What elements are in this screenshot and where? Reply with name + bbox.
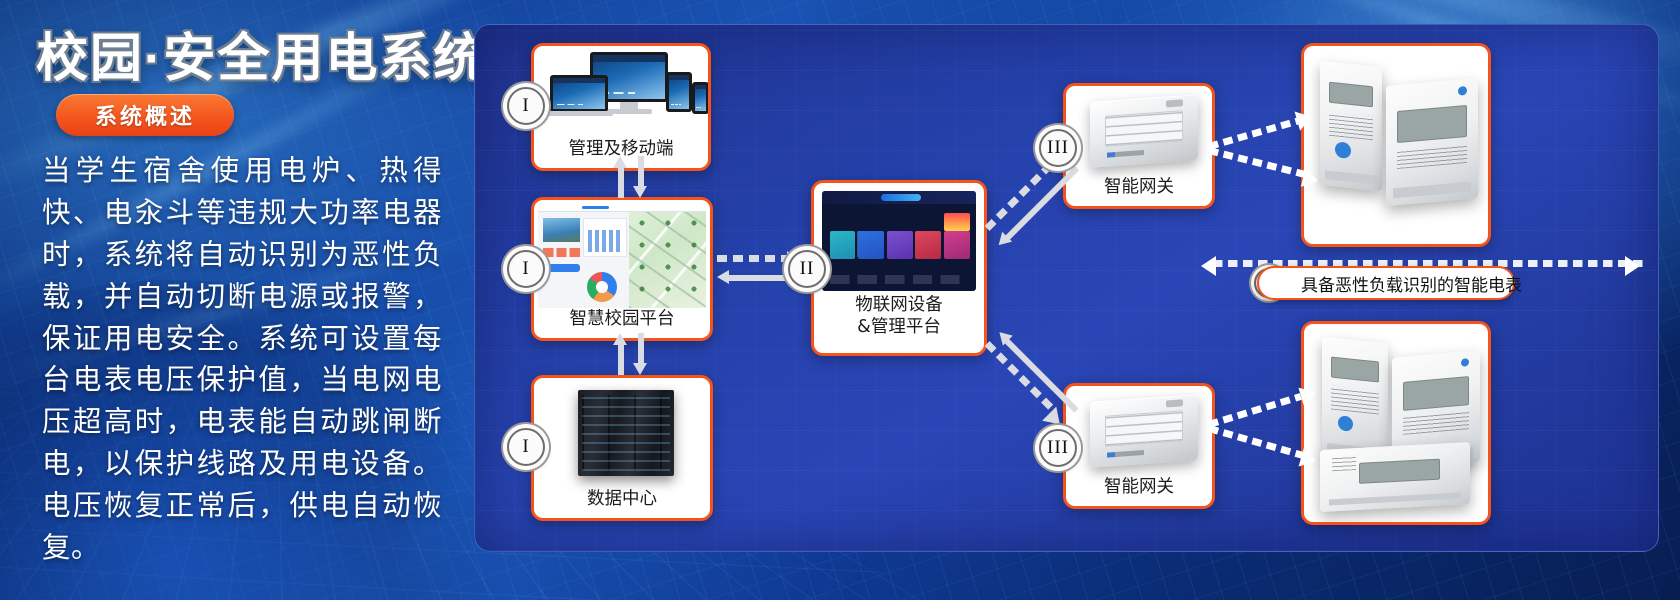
gateway-device-icon xyxy=(1090,94,1198,168)
node-iot-platform[interactable]: 物联网设备 &管理平台 xyxy=(811,180,987,356)
node-gateway-top[interactable]: 智能网关 xyxy=(1063,83,1215,209)
single-phase-meter-icon xyxy=(1320,61,1382,192)
badge-campus-platform: I xyxy=(507,250,545,288)
laptop-base xyxy=(545,111,613,116)
three-phase-meter-icon xyxy=(1386,78,1478,206)
diagram-panel: 管理及移动端 I 智慧校园平台 I 数据中心 I xyxy=(474,24,1659,552)
iv-meter-banner[interactable]: 具备恶性负载识别的智能电表 xyxy=(1257,266,1515,300)
node-caption: 智慧校园平台 xyxy=(534,309,710,331)
admin-mobile-illustration xyxy=(534,46,708,132)
laptop-screen-icon xyxy=(550,75,608,112)
iot-platform-screenshot xyxy=(822,191,976,291)
server-rack-icon xyxy=(578,390,674,476)
page-title: 校园·安全用电系统 xyxy=(36,16,487,91)
node-caption: 智能网关 xyxy=(1066,177,1212,199)
left-column: 校园·安全用电系统 系统概述 当学生宿舍使用电炉、热得快、电汆斗等违规大功率电器… xyxy=(0,0,470,600)
node-smart-meters-top[interactable] xyxy=(1301,43,1491,247)
node-gateway-bottom[interactable]: 智能网关 xyxy=(1063,383,1215,509)
badge-iot-platform: II xyxy=(788,250,826,288)
phone-screen-icon xyxy=(692,82,709,114)
connector-center-arrowhead xyxy=(1625,256,1640,276)
node-smart-meters-bottom[interactable] xyxy=(1301,321,1491,525)
campus-platform-screenshot xyxy=(538,204,706,308)
connector-gateway-top-meter-a xyxy=(1208,118,1298,150)
badge-gateway-top: III xyxy=(1039,129,1077,167)
node-caption: 物联网设备 &管理平台 xyxy=(814,295,984,339)
connector-campus-to-iot-dotted xyxy=(717,255,789,262)
connector-gateway-bottom-to-iot-solid xyxy=(994,327,1082,415)
connector-gateway-top-meter-b xyxy=(1208,147,1307,178)
badge-gateway-bottom: III xyxy=(1039,429,1077,467)
node-campus-platform[interactable]: 智慧校园平台 xyxy=(531,197,713,341)
connector-gateway-bottom-meter-a xyxy=(1208,393,1302,428)
section-badge-system-overview: 系统概述 xyxy=(56,94,234,136)
tablet-screen-icon xyxy=(666,72,692,112)
node-data-center[interactable]: 数据中心 xyxy=(531,375,713,521)
connector-admin-campus xyxy=(613,156,648,198)
iv-banner-label: 具备恶性负载识别的智能电表 xyxy=(1301,271,1522,296)
din-rail-meter-icon xyxy=(1320,442,1470,512)
poster-root: 校园·安全用电系统 系统概述 当学生宿舍使用电炉、热得快、电汆斗等违规大功率电器… xyxy=(0,0,1680,600)
connector-campus-datacenter xyxy=(613,333,648,375)
node-admin-mobile[interactable]: 管理及移动端 xyxy=(531,43,711,171)
node-caption: 智能网关 xyxy=(1066,477,1212,499)
gateway-device-icon xyxy=(1090,394,1198,468)
badge-admin-mobile: I xyxy=(507,87,545,125)
connector-gateway-bottom-meter-b xyxy=(1208,425,1304,459)
connector-center-arrowhead-left xyxy=(1201,256,1216,276)
node-caption: 数据中心 xyxy=(534,489,710,511)
badge-data-center: I xyxy=(507,428,545,466)
node-caption-line2: &管理平台 xyxy=(814,317,984,339)
single-phase-meter-icon xyxy=(1322,337,1388,464)
overview-paragraph: 当学生宿舍使用电炉、热得快、电汆斗等违规大功率电器时，系统将自动识别为恶性负载，… xyxy=(42,150,442,569)
node-caption-line1: 物联网设备 xyxy=(814,295,984,317)
